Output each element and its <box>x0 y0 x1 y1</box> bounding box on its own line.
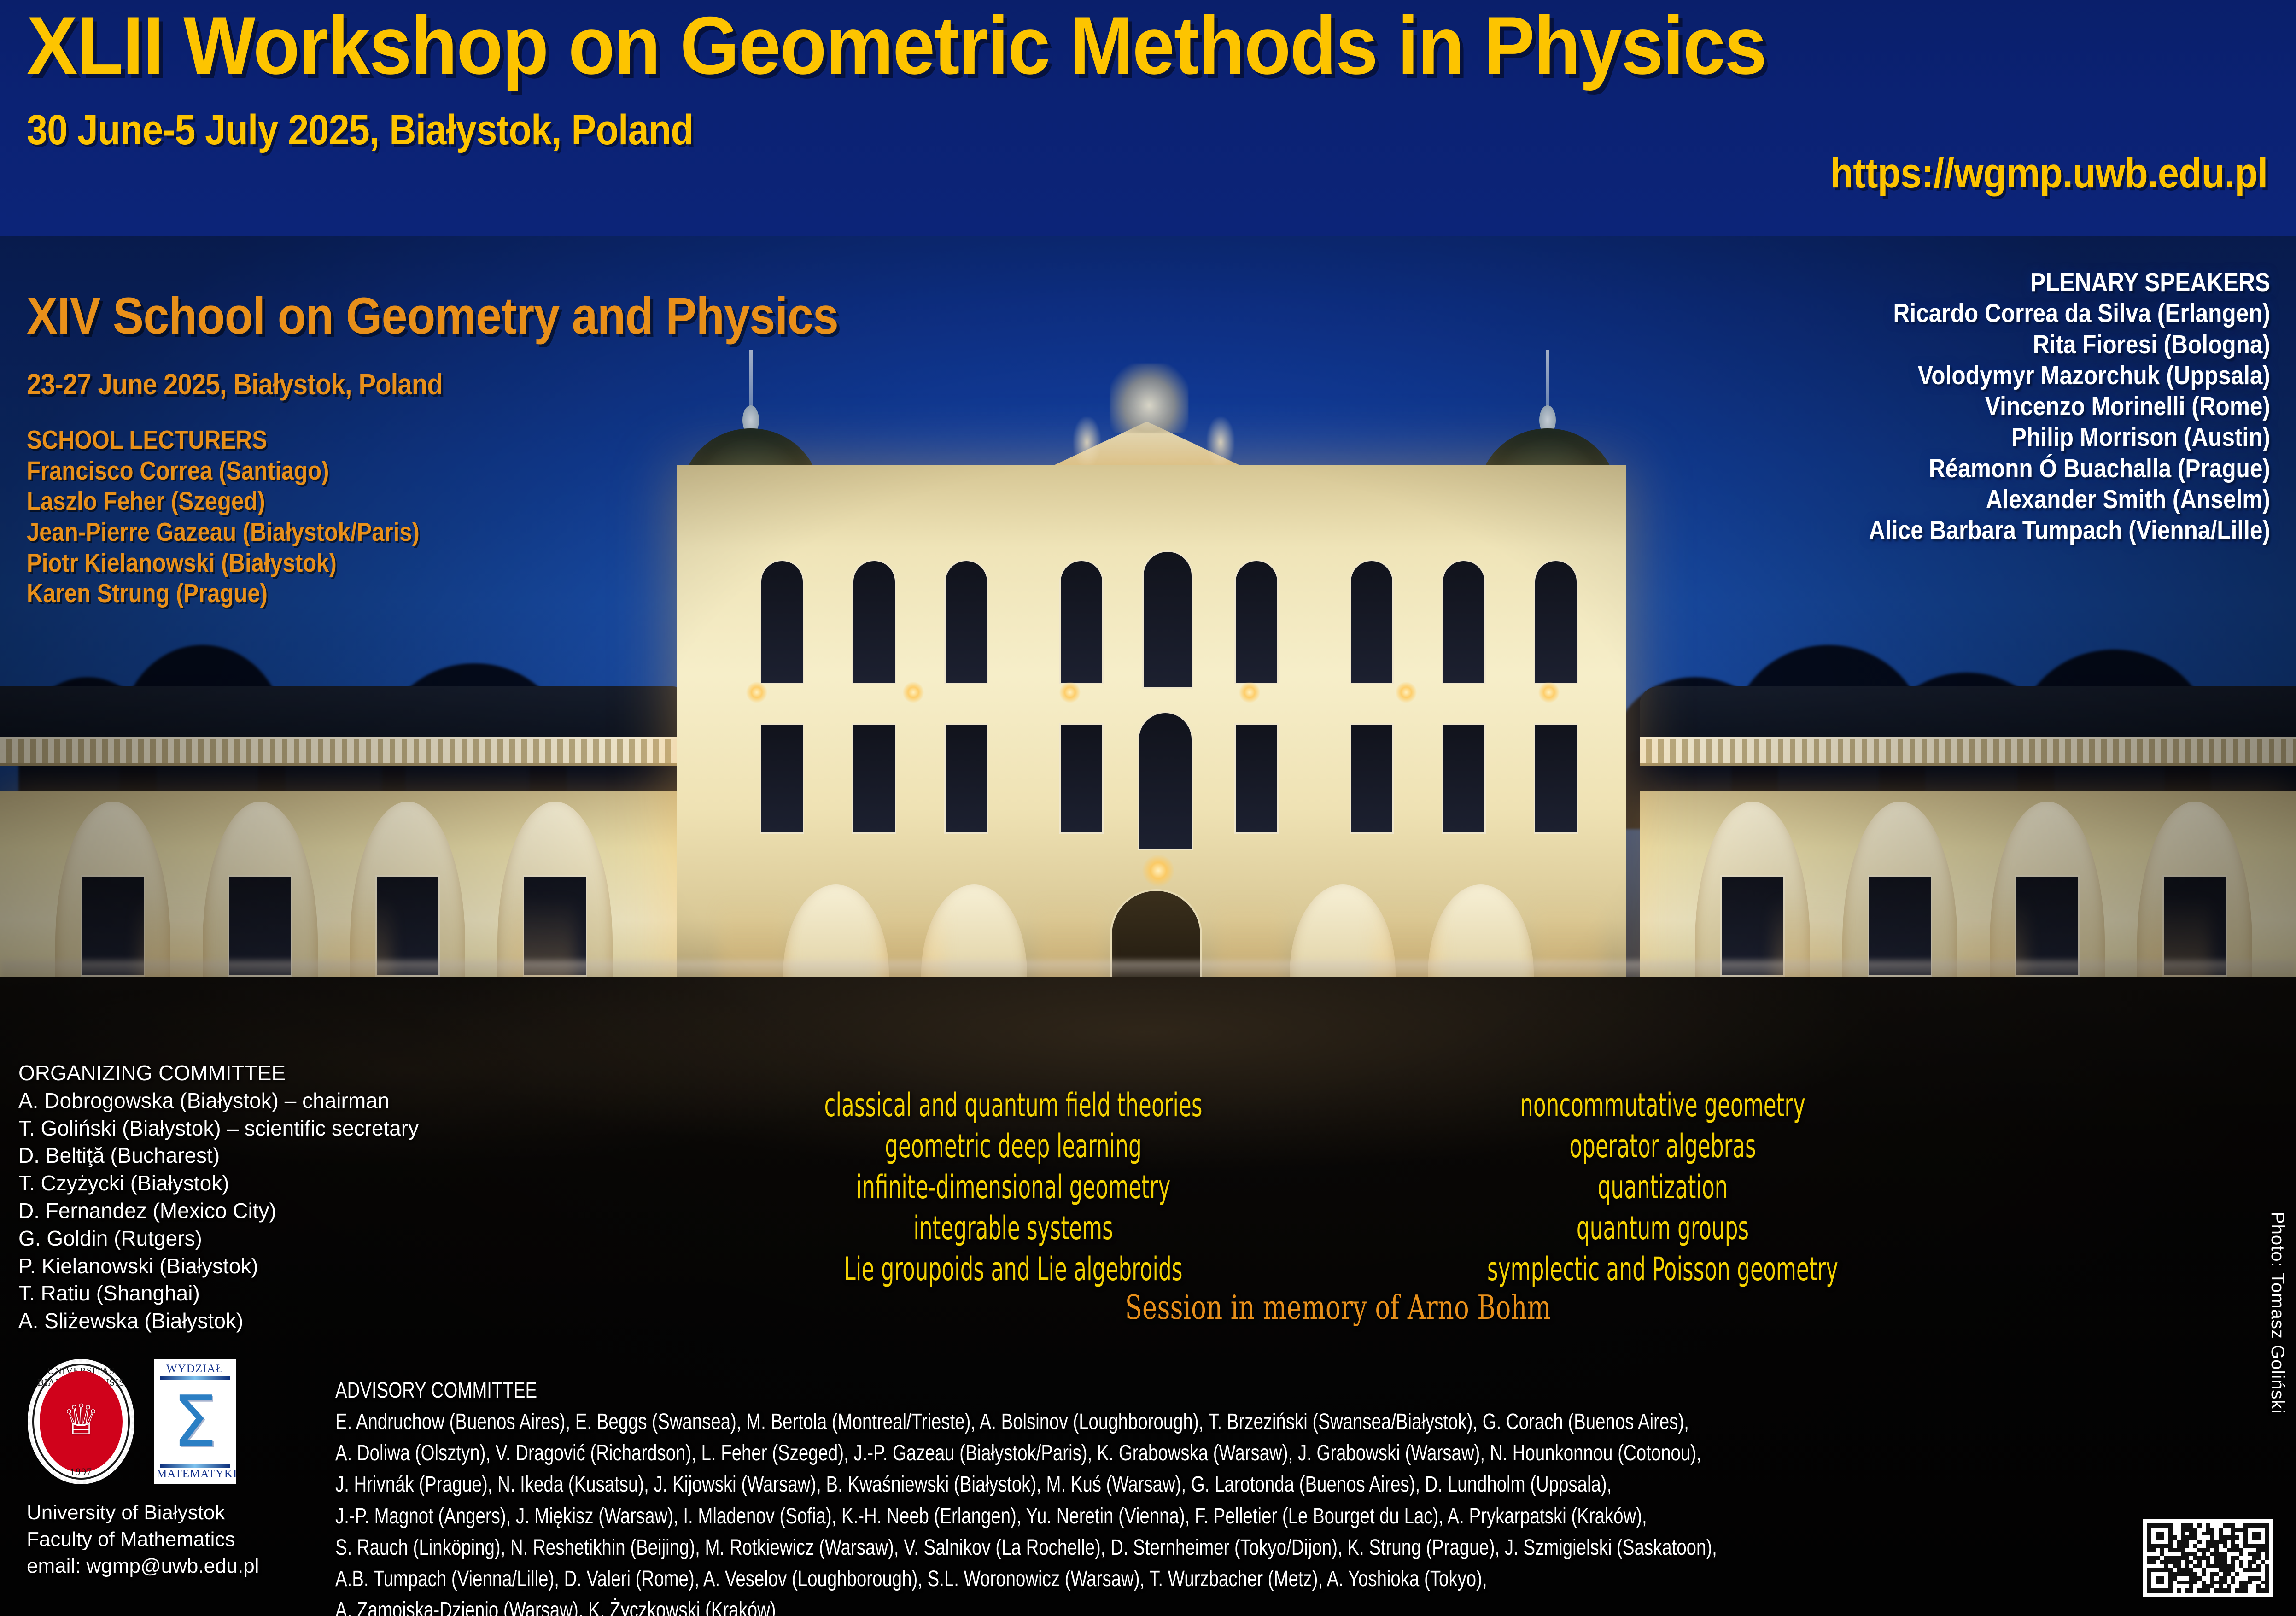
qr-module <box>2197 1523 2202 1528</box>
qr-module <box>2156 1556 2160 1560</box>
qr-module <box>2252 1568 2256 1572</box>
school-title: XIV School on Geometry and Physics <box>27 290 838 342</box>
qr-module <box>2177 1532 2181 1536</box>
qr-module <box>2256 1581 2261 1585</box>
university-seal-logo: UNIVERSITAS BIALOSTOCENSIS ♕ 1997 <box>28 1359 134 1484</box>
qr-module <box>2219 1588 2223 1593</box>
qr-module <box>2239 1556 2243 1560</box>
qr-module <box>2231 1532 2235 1536</box>
qr-module <box>2227 1548 2231 1552</box>
qr-module <box>2193 1581 2197 1585</box>
qr-module <box>2181 1588 2185 1593</box>
qr-module <box>2256 1564 2261 1568</box>
qr-module <box>2164 1572 2168 1576</box>
qr-module <box>2210 1576 2214 1581</box>
qr-code-matrix <box>2147 1523 2269 1593</box>
qr-module <box>2168 1523 2173 1528</box>
qr-module <box>2227 1560 2231 1564</box>
list-item: noncommutative geometry <box>1450 1085 1875 1126</box>
qr-module <box>2185 1560 2189 1564</box>
qr-module <box>2231 1528 2235 1532</box>
qr-module <box>2185 1584 2189 1588</box>
qr-module <box>2185 1576 2189 1581</box>
qr-module <box>2177 1523 2181 1528</box>
qr-module <box>2223 1556 2227 1560</box>
qr-module <box>2177 1584 2181 1588</box>
qr-module <box>2214 1532 2219 1536</box>
qr-module <box>2168 1568 2173 1572</box>
qr-module <box>2261 1544 2265 1548</box>
qr-module <box>2156 1544 2160 1548</box>
qr-module <box>2248 1532 2252 1536</box>
qr-module <box>2156 1576 2160 1581</box>
qr-module <box>2202 1523 2206 1528</box>
qr-module <box>2156 1523 2160 1528</box>
qr-module <box>2151 1584 2156 1588</box>
qr-module <box>2206 1588 2210 1593</box>
qr-module <box>2252 1528 2256 1532</box>
qr-module <box>2265 1572 2269 1576</box>
qr-module <box>2227 1568 2231 1572</box>
qr-module <box>2214 1540 2219 1544</box>
qr-module <box>2248 1556 2252 1560</box>
faculty-of-mathematics-logo: WYDZIAŁ Σ MATEMATYKI <box>154 1359 236 1484</box>
qr-module <box>2147 1556 2151 1560</box>
qr-module <box>2173 1528 2177 1532</box>
qr-module <box>2181 1576 2185 1581</box>
qr-module <box>2197 1560 2202 1564</box>
qr-module <box>2147 1544 2151 1548</box>
qr-module <box>2223 1523 2227 1528</box>
qr-module <box>2210 1588 2214 1593</box>
qr-module <box>2147 1552 2151 1556</box>
qr-module <box>2243 1556 2248 1560</box>
qr-module <box>2235 1540 2239 1544</box>
list-item: infinite-dimensional geometry <box>801 1167 1226 1208</box>
qr-module <box>2239 1540 2243 1544</box>
qr-module <box>2210 1568 2214 1572</box>
qr-module <box>2193 1564 2197 1568</box>
qr-module <box>2248 1588 2252 1593</box>
qr-module <box>2227 1523 2231 1528</box>
qr-module <box>2210 1581 2214 1585</box>
photo-vignette <box>0 0 2296 1616</box>
qr-module <box>2202 1535 2206 1540</box>
qr-module <box>2202 1560 2206 1564</box>
qr-module <box>2160 1544 2164 1548</box>
qr-module <box>2235 1528 2239 1532</box>
qr-module <box>2256 1544 2261 1548</box>
qr-module <box>2177 1560 2181 1564</box>
qr-module <box>2239 1532 2243 1536</box>
qr-module <box>2265 1581 2269 1585</box>
qr-module <box>2197 1544 2202 1548</box>
qr-module <box>2185 1548 2189 1552</box>
qr-module <box>2202 1544 2206 1548</box>
organizing-committee-section: ORGANIZING COMMITTEE A. Dobrogowska (Bia… <box>18 1060 419 1335</box>
plenary-speakers-list: Ricardo Correa da Silva (Erlangen) Rita … <box>1869 298 2270 546</box>
qr-module <box>2156 1584 2160 1588</box>
qr-module <box>2261 1572 2265 1576</box>
qr-module <box>2147 1584 2151 1588</box>
qr-module <box>2147 1568 2151 1572</box>
qr-module <box>2151 1548 2156 1552</box>
qr-module <box>2160 1548 2164 1552</box>
conference-poster: XLII Workshop on Geometric Methods in Ph… <box>0 0 2296 1616</box>
qr-module <box>2219 1548 2223 1552</box>
qr-module <box>2160 1532 2164 1536</box>
qr-module <box>2256 1548 2261 1552</box>
qr-module <box>2256 1528 2261 1532</box>
qr-module <box>2248 1572 2252 1576</box>
qr-module <box>2177 1535 2181 1540</box>
qr-module <box>2214 1564 2219 1568</box>
qr-module <box>2231 1568 2235 1572</box>
qr-module <box>2223 1564 2227 1568</box>
qr-module <box>2177 1540 2181 1544</box>
qr-module <box>2214 1548 2219 1552</box>
qr-module <box>2173 1572 2177 1576</box>
contact-email[interactable]: email: wgmp@uwb.edu.pl <box>27 1553 259 1580</box>
qr-module <box>2197 1564 2202 1568</box>
qr-module <box>2185 1532 2189 1536</box>
qr-module <box>2256 1556 2261 1560</box>
qr-module <box>2239 1544 2243 1548</box>
qr-module <box>2256 1584 2261 1588</box>
qr-module <box>2151 1581 2156 1585</box>
qr-module <box>2214 1560 2219 1564</box>
qr-module <box>2265 1523 2269 1528</box>
qr-module <box>2239 1548 2243 1552</box>
contact-faculty: Faculty of Mathematics <box>27 1526 259 1553</box>
qr-module <box>2239 1588 2243 1593</box>
qr-module <box>2210 1523 2214 1528</box>
qr-module <box>2223 1535 2227 1540</box>
qr-module <box>2235 1535 2239 1540</box>
qr-module <box>2223 1532 2227 1536</box>
qr-module <box>2239 1523 2243 1528</box>
qr-module <box>2261 1532 2265 1536</box>
qr-module <box>2181 1584 2185 1588</box>
qr-module <box>2231 1560 2235 1564</box>
qr-module <box>2227 1540 2231 1544</box>
qr-module <box>2243 1548 2248 1552</box>
qr-module <box>2248 1528 2252 1532</box>
list-item: T. Goliński (Białystok) – scientific sec… <box>18 1115 419 1142</box>
qr-module <box>2243 1535 2248 1540</box>
list-item: Philip Morrison (Austin) <box>1869 422 2270 453</box>
qr-module <box>2156 1560 2160 1564</box>
qr-module <box>2248 1568 2252 1572</box>
qr-module <box>2223 1576 2227 1581</box>
qr-module <box>2177 1581 2181 1585</box>
list-item: A. Zamojska-Dzienio (Warsaw), K. Życzkow… <box>335 1595 1717 1616</box>
qr-module <box>2197 1588 2202 1593</box>
qr-module <box>2206 1556 2210 1560</box>
qr-module <box>2223 1544 2227 1548</box>
qr-module <box>2185 1540 2189 1544</box>
qr-module <box>2223 1528 2227 1532</box>
qr-module <box>2219 1528 2223 1532</box>
qr-module <box>2219 1572 2223 1576</box>
qr-module <box>2193 1523 2197 1528</box>
qr-module <box>2185 1528 2189 1532</box>
qr-module <box>2185 1564 2189 1568</box>
qr-module <box>2173 1581 2177 1585</box>
qr-module <box>2206 1544 2210 1548</box>
qr-module <box>2202 1540 2206 1544</box>
qr-module <box>2151 1544 2156 1548</box>
qr-code[interactable] <box>2143 1519 2273 1597</box>
qr-module <box>2256 1572 2261 1576</box>
qr-module <box>2151 1564 2156 1568</box>
qr-module <box>2197 1572 2202 1576</box>
qr-module <box>2197 1548 2202 1552</box>
qr-module <box>2210 1584 2214 1588</box>
qr-module <box>2185 1523 2189 1528</box>
qr-module <box>2181 1523 2185 1528</box>
qr-module <box>2164 1584 2168 1588</box>
qr-module <box>2243 1552 2248 1556</box>
qr-module <box>2185 1552 2189 1556</box>
qr-module <box>2193 1588 2197 1593</box>
qr-module <box>2206 1552 2210 1556</box>
qr-module <box>2151 1528 2156 1532</box>
qr-module <box>2261 1584 2265 1588</box>
seal-year-text: 1997 <box>28 1466 134 1478</box>
qr-module <box>2202 1576 2206 1581</box>
qr-module <box>2189 1588 2193 1593</box>
qr-module <box>2151 1568 2156 1572</box>
list-item: G. Goldin (Rutgers) <box>18 1225 419 1253</box>
qr-module <box>2173 1535 2177 1540</box>
contact-block: University of Białystok Faculty of Mathe… <box>27 1499 259 1580</box>
list-item: A. Dobrogowska (Białystok) – chairman <box>18 1087 419 1115</box>
qr-module <box>2206 1568 2210 1572</box>
qr-module <box>2256 1588 2261 1593</box>
list-item: Lie groupoids and Lie algebroids <box>801 1249 1226 1290</box>
qr-module <box>2151 1560 2156 1564</box>
qr-module <box>2243 1584 2248 1588</box>
qr-module <box>2160 1568 2164 1572</box>
qr-module <box>2206 1540 2210 1544</box>
qr-module <box>2193 1584 2197 1588</box>
qr-module <box>2252 1544 2256 1548</box>
qr-module <box>2243 1581 2248 1585</box>
list-item: Alexander Smith (Anselm) <box>1869 484 2270 515</box>
list-item: Karen Strung (Prague) <box>27 578 802 609</box>
qr-module <box>2223 1548 2227 1552</box>
qr-module <box>2181 1564 2185 1568</box>
qr-module <box>2261 1548 2265 1552</box>
qr-module <box>2168 1535 2173 1540</box>
qr-module <box>2235 1568 2239 1572</box>
list-item: geometric deep learning <box>801 1126 1226 1167</box>
qr-module <box>2265 1532 2269 1536</box>
qr-module <box>2231 1576 2235 1581</box>
qr-module <box>2189 1556 2193 1560</box>
qr-module <box>2151 1540 2156 1544</box>
qr-module <box>2177 1572 2181 1576</box>
qr-module <box>2151 1572 2156 1576</box>
qr-module <box>2147 1581 2151 1585</box>
qr-module <box>2219 1564 2223 1568</box>
qr-module <box>2252 1588 2256 1593</box>
qr-module <box>2156 1564 2160 1568</box>
qr-module <box>2235 1532 2239 1536</box>
qr-module <box>2214 1572 2219 1576</box>
qr-module <box>2147 1564 2151 1568</box>
qr-module <box>2185 1544 2189 1548</box>
qr-module <box>2168 1548 2173 1552</box>
qr-module <box>2248 1540 2252 1544</box>
qr-module <box>2185 1588 2189 1593</box>
photo-credit: Photo: Tomasz Goliński <box>2267 1212 2288 1414</box>
qr-module <box>2239 1560 2243 1564</box>
qr-module <box>2189 1528 2193 1532</box>
qr-module <box>2210 1540 2214 1544</box>
qr-module <box>2256 1523 2261 1528</box>
qr-module <box>2231 1572 2235 1576</box>
list-item: P. Kielanowski (Białystok) <box>18 1253 419 1280</box>
qr-module <box>2227 1535 2231 1540</box>
qr-module <box>2189 1584 2193 1588</box>
qr-module <box>2210 1564 2214 1568</box>
qr-module <box>2156 1568 2160 1572</box>
qr-module <box>2214 1544 2219 1548</box>
qr-module <box>2164 1560 2168 1564</box>
qr-module <box>2193 1540 2197 1544</box>
qr-module <box>2197 1528 2202 1532</box>
school-lecturers-list: Francisco Correa (Santiago) Laszlo Feher… <box>27 456 802 609</box>
qr-module <box>2256 1540 2261 1544</box>
qr-module <box>2227 1584 2231 1588</box>
qr-module <box>2206 1560 2210 1564</box>
qr-module <box>2151 1556 2156 1560</box>
qr-module <box>2168 1528 2173 1532</box>
qr-module <box>2177 1548 2181 1552</box>
qr-module <box>2243 1544 2248 1548</box>
qr-module <box>2189 1540 2193 1544</box>
qr-module <box>2235 1581 2239 1585</box>
qr-module <box>2252 1535 2256 1540</box>
list-item: A. Doliwa (Olsztyn), V. Dragović (Richar… <box>335 1438 1717 1469</box>
qr-module <box>2202 1564 2206 1568</box>
qr-module <box>2181 1560 2185 1564</box>
qr-module <box>2160 1540 2164 1544</box>
qr-module <box>2173 1532 2177 1536</box>
qr-module <box>2256 1560 2261 1564</box>
qr-module <box>2197 1556 2202 1560</box>
qr-module <box>2223 1588 2227 1593</box>
qr-module <box>2197 1532 2202 1536</box>
qr-module <box>2160 1581 2164 1585</box>
qr-module <box>2189 1548 2193 1552</box>
qr-module <box>2189 1552 2193 1556</box>
qr-module <box>2202 1532 2206 1536</box>
qr-module <box>2147 1532 2151 1536</box>
qr-module <box>2185 1568 2189 1572</box>
qr-module <box>2206 1523 2210 1528</box>
qr-module <box>2160 1584 2164 1588</box>
qr-module <box>2223 1568 2227 1572</box>
qr-module <box>2261 1523 2265 1528</box>
header-banner: XLII Workshop on Geometric Methods in Ph… <box>0 0 2296 236</box>
qr-module <box>2173 1564 2177 1568</box>
qr-module <box>2202 1581 2206 1585</box>
qr-module <box>2168 1572 2173 1576</box>
qr-module <box>2261 1540 2265 1544</box>
qr-module <box>2231 1548 2235 1552</box>
qr-module <box>2210 1560 2214 1564</box>
qr-module <box>2181 1556 2185 1560</box>
list-item: classical and quantum field theories <box>801 1085 1226 1126</box>
qr-module <box>2243 1572 2248 1576</box>
qr-module <box>2197 1540 2202 1544</box>
qr-module <box>2210 1572 2214 1576</box>
qr-module <box>2173 1523 2177 1528</box>
advisory-committee-list: E. Andruchow (Buenos Aires), E. Beggs (S… <box>335 1406 1717 1616</box>
qr-module <box>2223 1572 2227 1576</box>
qr-module <box>2168 1544 2173 1548</box>
list-item: integrable systems <box>801 1208 1226 1249</box>
qr-module <box>2156 1581 2160 1585</box>
white-eagle-icon: ♕ <box>62 1399 100 1441</box>
qr-module <box>2168 1560 2173 1564</box>
qr-module <box>2239 1581 2243 1585</box>
qr-module <box>2235 1572 2239 1576</box>
qr-module <box>2164 1528 2168 1532</box>
qr-module <box>2235 1544 2239 1548</box>
qr-module <box>2189 1568 2193 1572</box>
qr-module <box>2160 1552 2164 1556</box>
qr-module <box>2168 1532 2173 1536</box>
qr-module <box>2235 1576 2239 1581</box>
list-item: D. Beltiţă (Bucharest) <box>18 1142 419 1170</box>
qr-module <box>2210 1528 2214 1532</box>
qr-module <box>2193 1528 2197 1532</box>
qr-module <box>2256 1576 2261 1581</box>
qr-module <box>2151 1576 2156 1581</box>
qr-module <box>2181 1581 2185 1585</box>
qr-module <box>2156 1572 2160 1576</box>
qr-module <box>2147 1548 2151 1552</box>
faculty-logo-bottom-bar <box>160 1464 230 1468</box>
qr-module <box>2210 1532 2214 1536</box>
qr-module <box>2256 1535 2261 1540</box>
qr-module <box>2193 1535 2197 1540</box>
qr-module <box>2160 1528 2164 1532</box>
qr-module <box>2193 1544 2197 1548</box>
faculty-logo-bottom-text: MATEMATYKI <box>157 1468 233 1481</box>
list-item: Jean-Pierre Gazeau (Białystok/Paris) <box>27 517 802 548</box>
qr-module <box>2248 1544 2252 1548</box>
qr-module <box>2189 1581 2193 1585</box>
list-item: D. Fernandez (Mexico City) <box>18 1197 419 1225</box>
qr-module <box>2177 1552 2181 1556</box>
list-item: Vincenzo Morinelli (Rome) <box>1869 391 2270 422</box>
qr-module <box>2177 1544 2181 1548</box>
qr-module <box>2173 1568 2177 1572</box>
qr-module <box>2265 1588 2269 1593</box>
qr-module <box>2227 1588 2231 1593</box>
qr-module <box>2214 1552 2219 1556</box>
list-item: Laszlo Feher (Szeged) <box>27 486 802 517</box>
conference-website-link[interactable]: https://wgmp.uwb.edu.pl <box>1830 152 2267 194</box>
qr-module <box>2219 1584 2223 1588</box>
qr-module <box>2164 1540 2168 1544</box>
qr-module <box>2248 1535 2252 1540</box>
